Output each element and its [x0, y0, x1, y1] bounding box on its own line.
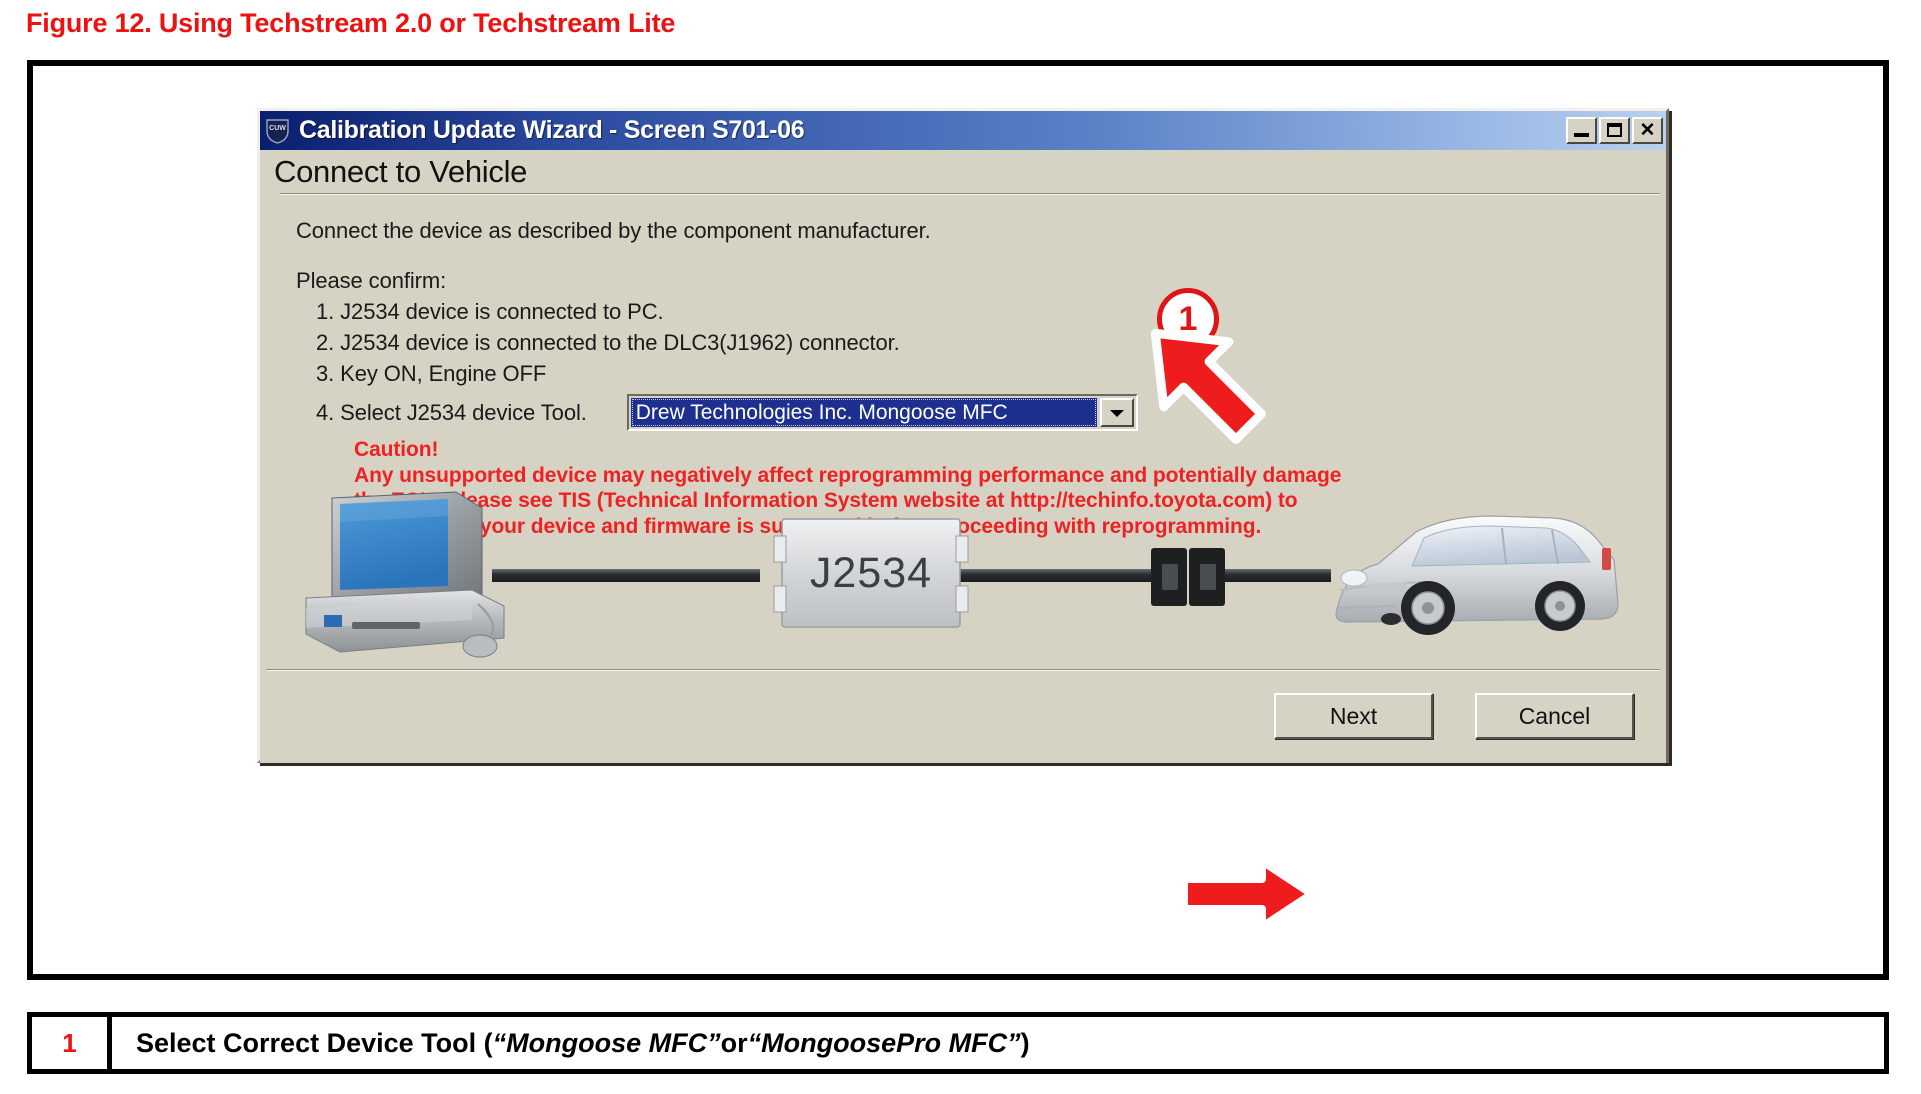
device-tool-selected-value: Drew Technologies Inc. Mongoose MFC: [631, 398, 1097, 427]
svg-text:CUW: CUW: [269, 125, 286, 132]
tool-select-row: 4. Select J2534 device Tool. Drew Techno…: [316, 394, 1666, 431]
red-arrow-down-left-icon: [1122, 300, 1282, 460]
intro-text: Connect the device as described by the c…: [296, 220, 1666, 242]
tool-select-label: 4. Select J2534 device Tool.: [316, 402, 587, 424]
figure-caption: Figure 12. Using Techstream 2.0 or Techs…: [26, 8, 675, 39]
legend-row-number: 1: [32, 1017, 112, 1069]
page-title: Connect to Vehicle: [274, 154, 1666, 190]
maximize-button[interactable]: [1599, 117, 1630, 144]
close-icon: ✕: [1634, 119, 1661, 142]
calibration-update-wizard-dialog: CUW Calibration Update Wizard - Screen S…: [257, 108, 1669, 763]
dialog-title: Calibration Update Wizard - Screen S701-…: [299, 116, 1564, 145]
legend-row-text: Select Correct Device Tool ( “Mongoose M…: [112, 1017, 1884, 1069]
confirm-item-1: 1. J2534 device is connected to PC.: [316, 301, 1666, 323]
legend-text-suffix: ): [1021, 1028, 1030, 1059]
legend-text-middle: or: [721, 1028, 748, 1059]
connection-diagram: J2534: [296, 486, 1626, 661]
minimize-button[interactable]: [1566, 117, 1597, 144]
footer-divider: [266, 669, 1660, 671]
confirm-item-2: 2. J2534 device is connected to the DLC3…: [316, 332, 1666, 354]
legend-emphasis-1: “Mongoose MFC”: [493, 1028, 721, 1059]
legend-table: 1 Select Correct Device Tool ( “Mongoose…: [27, 1012, 1889, 1074]
confirm-label: Please confirm:: [296, 270, 1666, 292]
dialog-body: Connect the device as described by the c…: [260, 206, 1666, 669]
page-heading-band: Connect to Vehicle: [260, 150, 1666, 206]
svg-text:J2534: J2534: [810, 549, 932, 597]
title-bar[interactable]: CUW Calibration Update Wizard - Screen S…: [260, 111, 1666, 150]
close-button[interactable]: ✕: [1632, 117, 1663, 144]
red-arrow-right-icon: [1178, 855, 1318, 933]
dialog-footer: Next Cancel: [260, 669, 1666, 763]
cancel-button[interactable]: Cancel: [1475, 693, 1634, 739]
device-tool-dropdown[interactable]: Drew Technologies Inc. Mongoose MFC: [627, 394, 1138, 431]
cuw-shield-icon: CUW: [265, 118, 290, 144]
next-button[interactable]: Next: [1274, 693, 1433, 739]
legend-text-prefix: Select Correct Device Tool (: [136, 1028, 493, 1059]
caution-line-1: Any unsupported device may negatively af…: [354, 463, 1666, 489]
heading-divider: [280, 193, 1660, 195]
caution-heading: Caution!: [354, 437, 1666, 463]
confirm-item-3: 3. Key ON, Engine OFF: [316, 363, 1666, 385]
legend-emphasis-2: “MongoosePro MFC”: [748, 1028, 1021, 1059]
